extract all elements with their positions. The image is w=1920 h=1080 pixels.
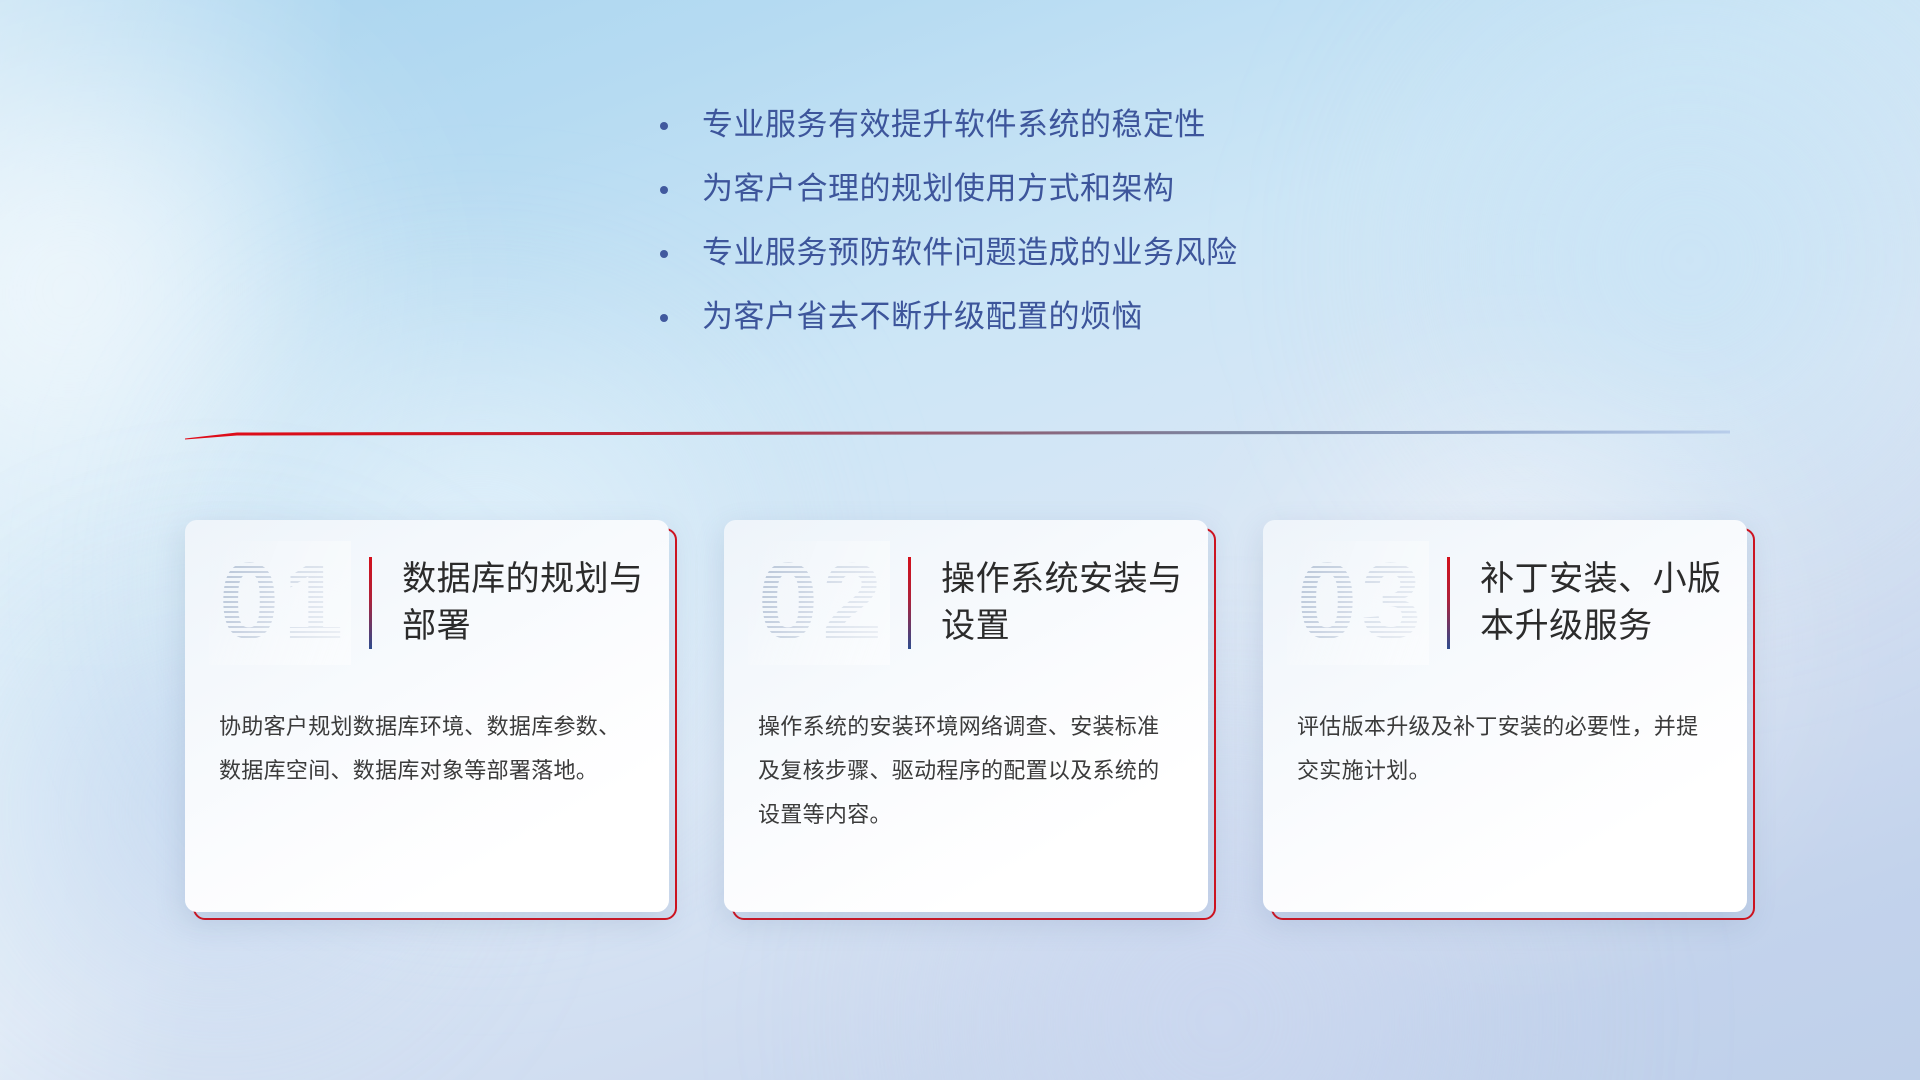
service-card-01[interactable]: 01 数据库的规划与部署 协助客户规划数据库环境、数据库参数、数据库空间、数据库… xyxy=(185,520,669,912)
benefits-bullet-list: 专业服务有效提升软件系统的稳定性 为客户合理的规划使用方式和架构 专业服务预防软… xyxy=(660,104,1400,360)
list-item: 专业服务有效提升软件系统的稳定性 xyxy=(660,104,1400,146)
bullet-dot-icon xyxy=(660,186,668,194)
card-number-watermark: 02 xyxy=(748,541,890,665)
card-title: 数据库的规划与部署 xyxy=(402,556,652,650)
list-item: 为客户合理的规划使用方式和架构 xyxy=(660,168,1400,210)
card-body: 协助客户规划数据库环境、数据库参数、数据库空间、数据库对象等部署落地。 xyxy=(185,685,669,793)
background-glow-top-right xyxy=(1340,0,1920,580)
bullet-text: 专业服务预防软件问题造成的业务风险 xyxy=(702,232,1238,274)
list-item: 专业服务预防软件问题造成的业务风险 xyxy=(660,232,1400,274)
bullet-dot-icon xyxy=(660,250,668,258)
list-item: 为客户省去不断升级配置的烦恼 xyxy=(660,296,1400,338)
service-card-02[interactable]: 02 操作系统安装与设置 操作系统的安装环境网络调查、安装标准及复核步骤、驱动程… xyxy=(724,520,1208,912)
service-card-row: 01 数据库的规划与部署 协助客户规划数据库环境、数据库参数、数据库空间、数据库… xyxy=(185,520,1745,912)
slide-root: 专业服务有效提升软件系统的稳定性 为客户合理的规划使用方式和架构 专业服务预防软… xyxy=(0,0,1920,1080)
bullet-dot-icon xyxy=(660,314,668,322)
card-title: 操作系统安装与设置 xyxy=(941,556,1191,650)
title-accent-bar xyxy=(369,557,372,649)
tapered-divider-icon xyxy=(185,425,1730,441)
bullet-text: 专业服务有效提升软件系统的稳定性 xyxy=(702,104,1206,146)
card-title: 补丁安装、小版本升级服务 xyxy=(1480,556,1730,650)
card-description: 评估版本升级及补丁安装的必要性，并提交实施计划。 xyxy=(1297,705,1713,793)
card-body: 操作系统的安装环境网络调查、安装标准及复核步骤、驱动程序的配置以及系统的设置等内… xyxy=(724,685,1208,837)
bullet-dot-icon xyxy=(660,122,668,130)
card-header: 01 数据库的规划与部署 xyxy=(185,520,669,685)
card-surface: 03 补丁安装、小版本升级服务 评估版本升级及补丁安装的必要性，并提交实施计划。 xyxy=(1263,520,1747,912)
title-accent-bar xyxy=(1447,557,1450,649)
card-description: 操作系统的安装环境网络调查、安装标准及复核步骤、驱动程序的配置以及系统的设置等内… xyxy=(758,705,1174,837)
card-description: 协助客户规划数据库环境、数据库参数、数据库空间、数据库对象等部署落地。 xyxy=(219,705,635,793)
bullet-text: 为客户省去不断升级配置的烦恼 xyxy=(702,296,1143,338)
card-body: 评估版本升级及补丁安装的必要性，并提交实施计划。 xyxy=(1263,685,1747,793)
card-header: 03 补丁安装、小版本升级服务 xyxy=(1263,520,1747,685)
card-surface: 02 操作系统安装与设置 操作系统的安装环境网络调查、安装标准及复核步骤、驱动程… xyxy=(724,520,1208,912)
card-number-watermark: 01 xyxy=(209,541,351,665)
card-header: 02 操作系统安装与设置 xyxy=(724,520,1208,685)
bullet-text: 为客户合理的规划使用方式和架构 xyxy=(702,168,1175,210)
service-card-03[interactable]: 03 补丁安装、小版本升级服务 评估版本升级及补丁安装的必要性，并提交实施计划。 xyxy=(1263,520,1747,912)
card-surface: 01 数据库的规划与部署 协助客户规划数据库环境、数据库参数、数据库空间、数据库… xyxy=(185,520,669,912)
card-number-watermark: 03 xyxy=(1287,541,1429,665)
divider xyxy=(185,425,1730,441)
title-accent-bar xyxy=(908,557,911,649)
